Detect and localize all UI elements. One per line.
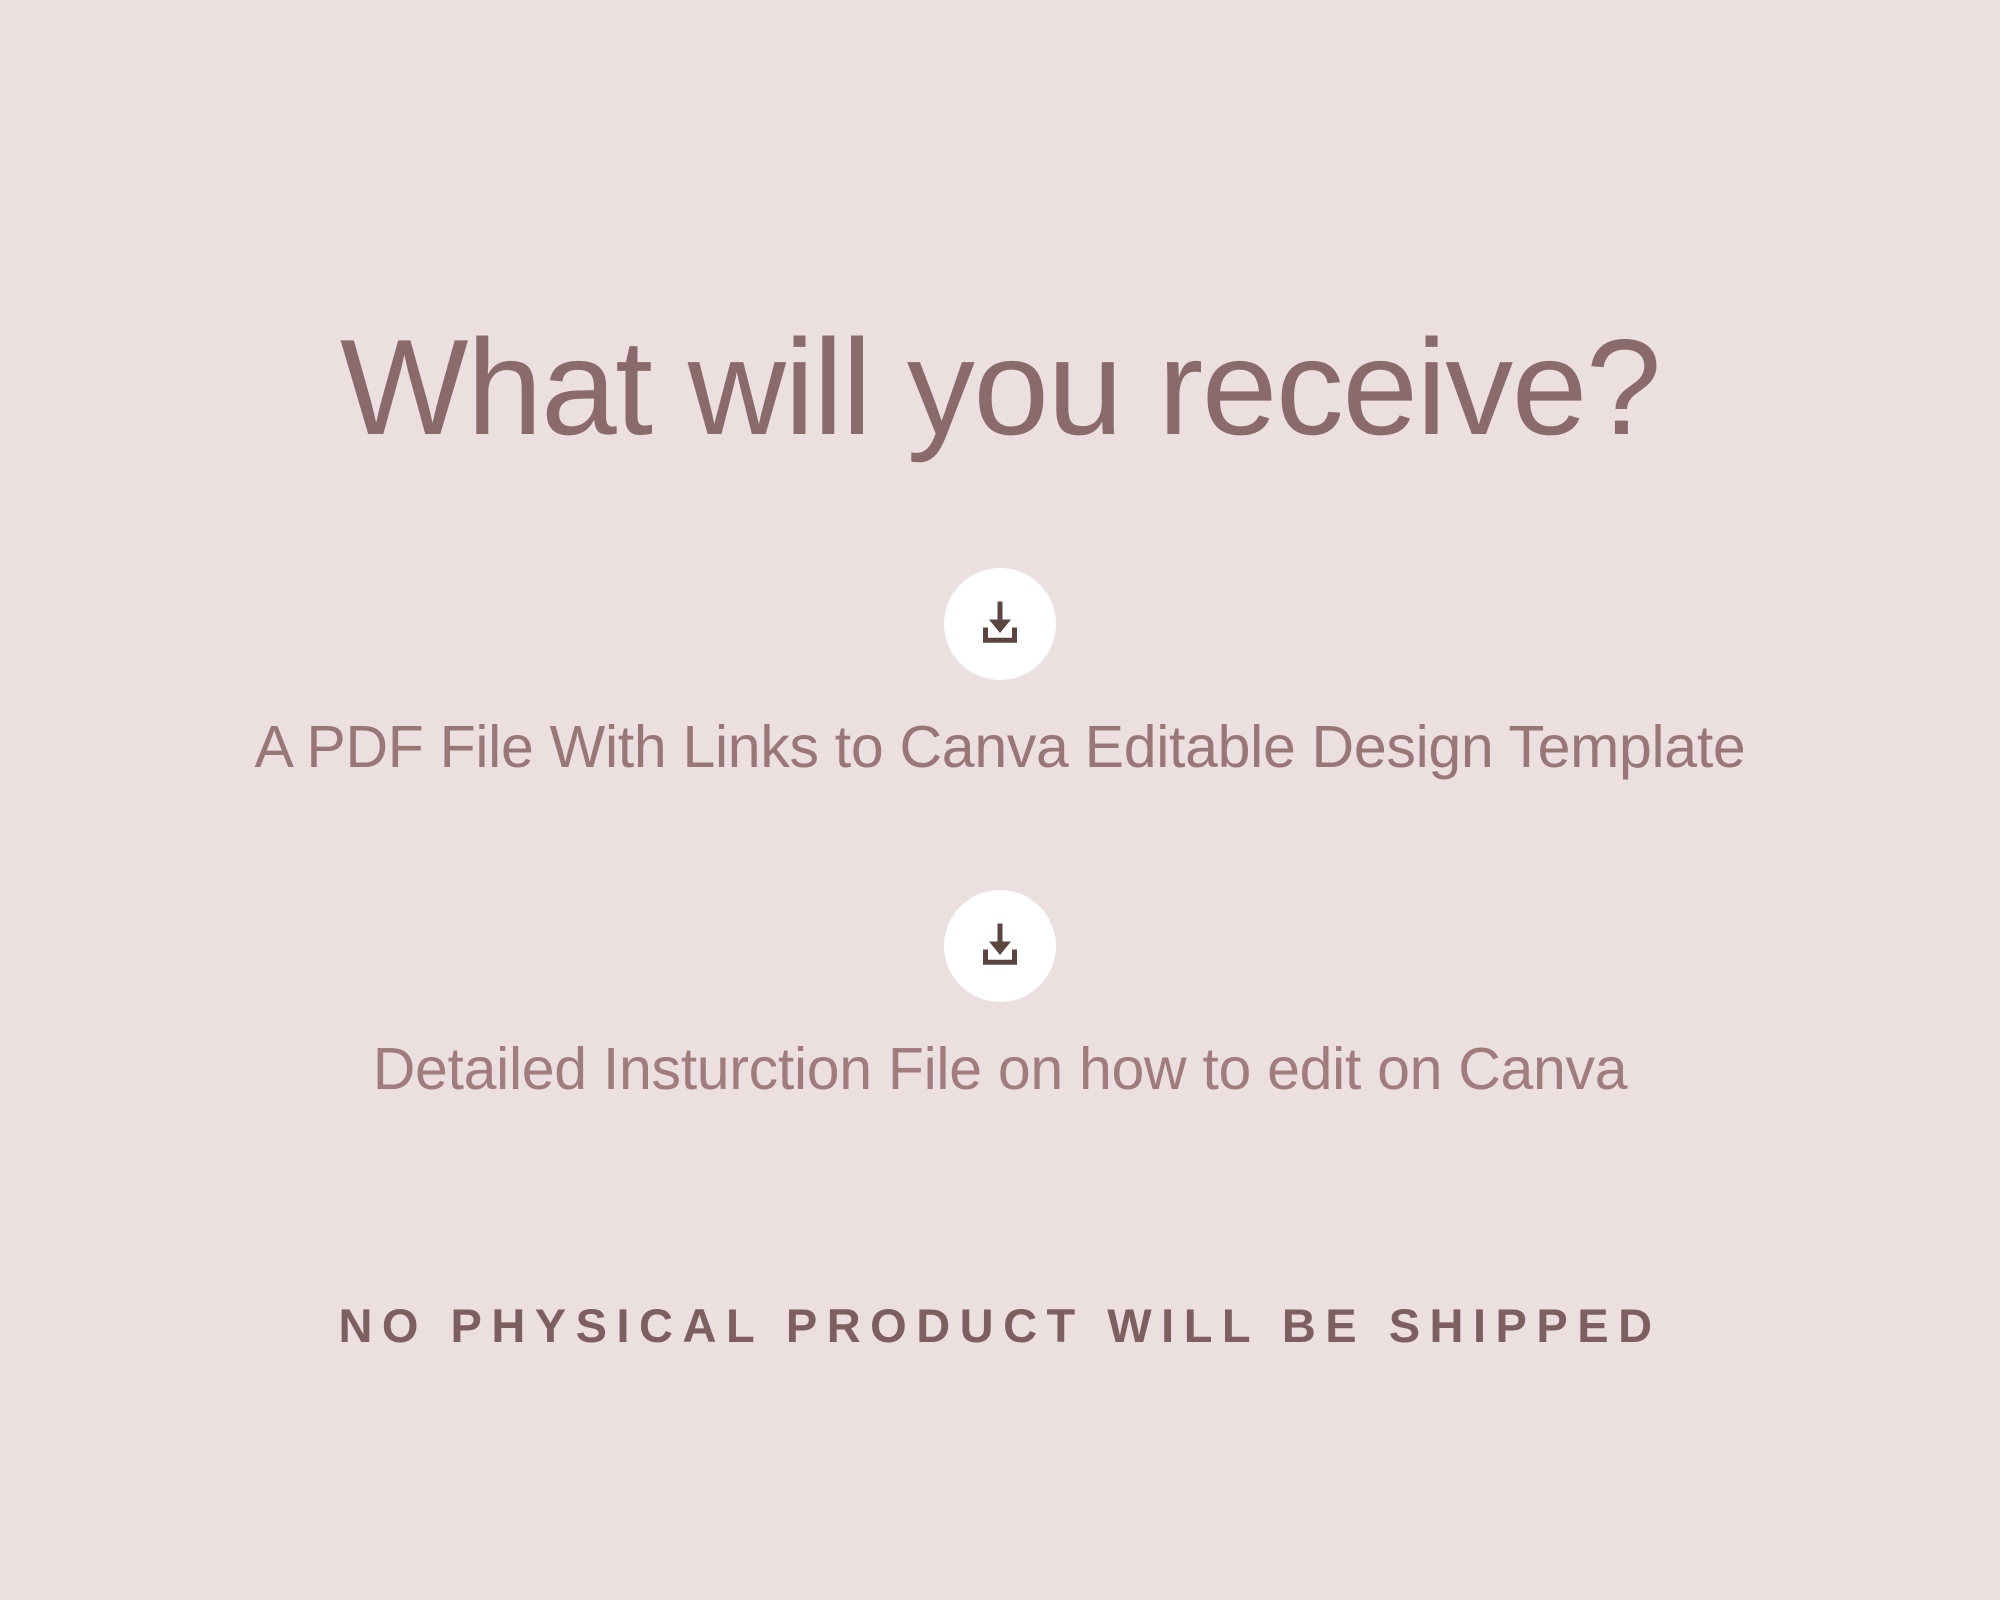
shipping-disclaimer: NO PHYSICAL PRODUCT WILL BE SHIPPED [0,1298,2000,1353]
feature-label: A PDF File With Links to Canva Editable … [0,714,2000,782]
promo-graphic: What will you receive? A PDF File With L… [0,0,2000,1600]
download-icon [970,594,1030,654]
page-title: What will you receive? [0,319,2000,455]
download-badge [944,568,1056,680]
feature-item-pdf: A PDF File With Links to Canva Editable … [0,568,2000,782]
download-badge [944,890,1056,1002]
feature-item-instructions: Detailed Insturction File on how to edit… [0,890,2000,1104]
download-icon [970,916,1030,976]
feature-label: Detailed Insturction File on how to edit… [0,1036,2000,1104]
